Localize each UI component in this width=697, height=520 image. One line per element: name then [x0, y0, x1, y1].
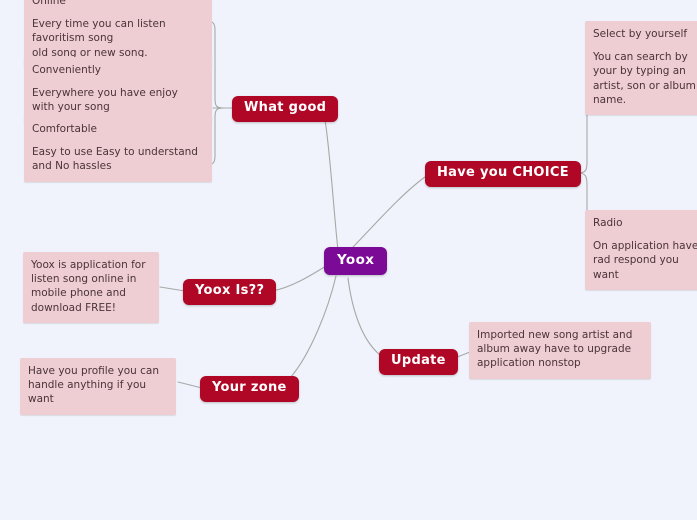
- note-conveniently[interactable]: Conveniently Everywhere you have enjoy w…: [24, 57, 212, 123]
- branch-node-yoox-is[interactable]: Yoox Is??: [183, 279, 276, 305]
- root-node-yoox[interactable]: Yoox: [324, 247, 387, 275]
- note-select-by-yourself-title: Select by yourself: [593, 27, 697, 41]
- note-select-by-yourself-body: You can search by your by typing an arti…: [593, 50, 697, 107]
- branch-node-what-good[interactable]: What good: [232, 96, 338, 122]
- note-radio[interactable]: Radio On application have rad respond yo…: [585, 210, 697, 290]
- note-select-by-yourself[interactable]: Select by yourself You can search by you…: [585, 21, 697, 115]
- branch-node-have-you-choice[interactable]: Have you CHOICE: [425, 161, 581, 187]
- mindmap-canvas: Online Every time you can listen favorit…: [0, 0, 697, 520]
- link-root-your-zone: [278, 276, 336, 386]
- note-your-zone-body: Have you profile you can handle anything…: [28, 364, 167, 407]
- note-yoox-is[interactable]: Yoox is application for listen song onli…: [23, 252, 159, 323]
- note-comfortable-body: Easy to use Easy to understand and No ha…: [32, 145, 203, 173]
- note-update-body: Imported new song artist and album away …: [477, 328, 642, 371]
- note-your-zone[interactable]: Have you profile you can handle anything…: [20, 358, 176, 415]
- note-yoox-is-body: Yoox is application for listen song onli…: [31, 258, 150, 315]
- link-your-zone-note: [178, 382, 202, 388]
- note-update[interactable]: Imported new song artist and album away …: [469, 322, 651, 379]
- note-online-title: Online: [32, 0, 203, 8]
- note-conveniently-body: Everywhere you have enjoy with your song: [32, 86, 203, 114]
- link-root-what-good: [311, 108, 338, 250]
- note-radio-body: On application have rad respond you want: [593, 239, 697, 282]
- branch-node-your-zone[interactable]: Your zone: [200, 376, 299, 402]
- branch-node-update[interactable]: Update: [379, 349, 458, 375]
- note-online-body: Every time you can listen favoritism son…: [32, 17, 203, 60]
- note-comfortable[interactable]: Comfortable Easy to use Easy to understa…: [24, 116, 212, 182]
- note-radio-title: Radio: [593, 216, 697, 230]
- link-root-yoox-is: [272, 266, 326, 291]
- note-comfortable-title: Comfortable: [32, 122, 203, 136]
- link-yoox-is-note: [160, 287, 185, 291]
- note-conveniently-title: Conveniently: [32, 63, 203, 77]
